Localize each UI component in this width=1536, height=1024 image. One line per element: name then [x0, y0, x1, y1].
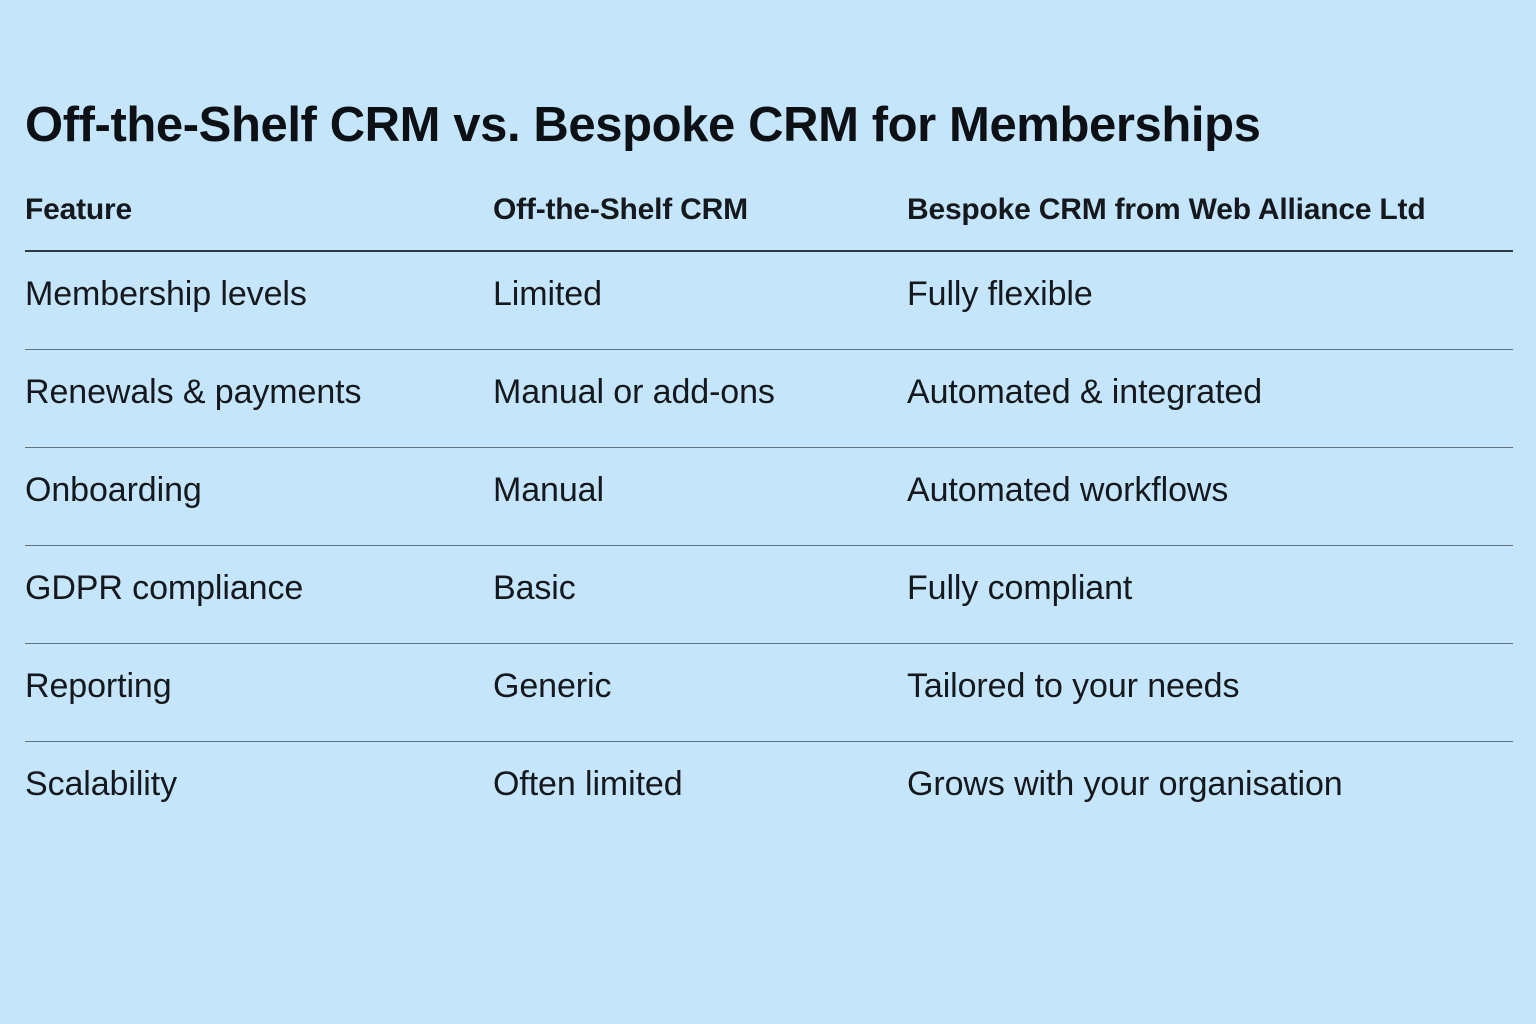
- table-row: Renewals & payments Manual or add-ons Au…: [0, 350, 1536, 448]
- cell-feature: Onboarding: [0, 448, 493, 510]
- cell-feature: Membership levels: [0, 252, 493, 314]
- table-row: Onboarding Manual Automated workflows: [0, 448, 1536, 546]
- table-row: Scalability Often limited Grows with you…: [0, 742, 1536, 840]
- cell-bespoke: Automated & integrated: [907, 350, 1536, 412]
- cell-off-the-shelf: Limited: [493, 252, 907, 314]
- cell-off-the-shelf: Basic: [493, 546, 907, 608]
- cell-bespoke: Fully flexible: [907, 252, 1536, 314]
- column-header-feature: Feature: [0, 186, 493, 228]
- column-header-bespoke: Bespoke CRM from Web Alliance Ltd: [907, 186, 1536, 228]
- cell-feature: Renewals & payments: [0, 350, 493, 412]
- cell-bespoke: Grows with your organisation: [907, 742, 1536, 804]
- cell-bespoke: Tailored to your needs: [907, 644, 1536, 706]
- cell-off-the-shelf: Often limited: [493, 742, 907, 804]
- column-header-off-the-shelf: Off-the-Shelf CRM: [493, 186, 907, 228]
- table-row: Reporting Generic Tailored to your needs: [0, 644, 1536, 742]
- cell-bespoke: Automated workflows: [907, 448, 1536, 510]
- cell-feature: Reporting: [0, 644, 493, 706]
- table-row: GDPR compliance Basic Fully compliant: [0, 546, 1536, 644]
- comparison-table-page: Off-the-Shelf CRM vs. Bespoke CRM for Me…: [0, 0, 1536, 1024]
- cell-off-the-shelf: Manual: [493, 448, 907, 510]
- cell-off-the-shelf: Manual or add-ons: [493, 350, 907, 412]
- cell-feature: GDPR compliance: [0, 546, 493, 608]
- cell-off-the-shelf: Generic: [493, 644, 907, 706]
- table-header-row: Feature Off-the-Shelf CRM Bespoke CRM fr…: [0, 186, 1536, 252]
- cell-bespoke: Fully compliant: [907, 546, 1536, 608]
- cell-feature: Scalability: [0, 742, 493, 804]
- table-row: Membership levels Limited Fully flexible: [0, 252, 1536, 350]
- page-title: Off-the-Shelf CRM vs. Bespoke CRM for Me…: [25, 95, 1261, 155]
- comparison-table: Feature Off-the-Shelf CRM Bespoke CRM fr…: [0, 186, 1536, 840]
